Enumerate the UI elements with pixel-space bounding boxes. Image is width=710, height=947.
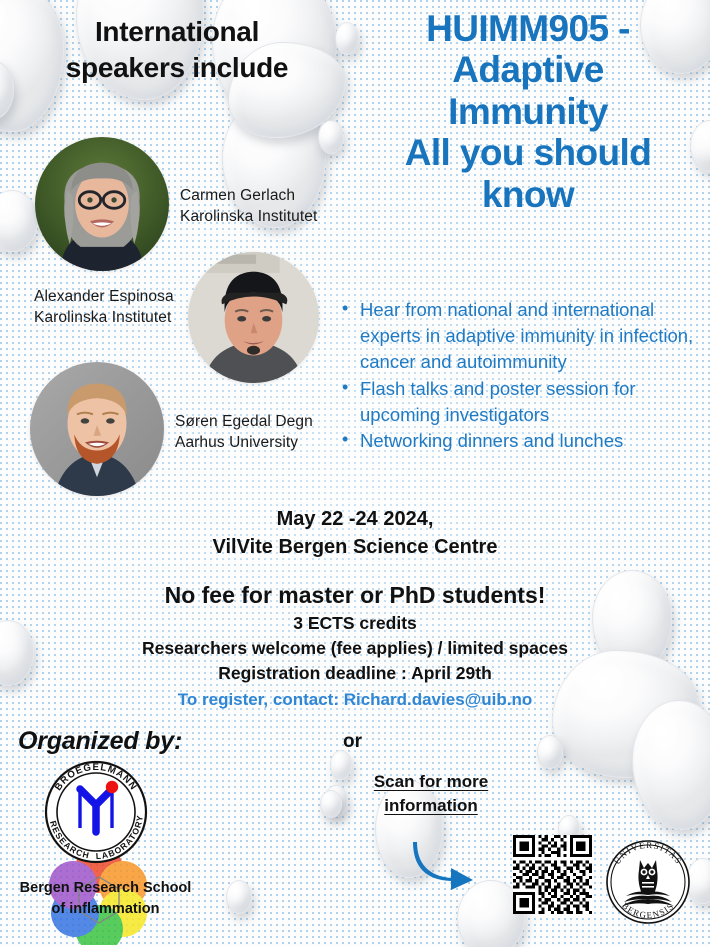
- list-item: Networking dinners and lunches: [338, 428, 706, 454]
- scan-for-more-information-label: Scan for more information: [355, 770, 507, 818]
- brsi-logo-label: Bergen Research School of inflammation: [8, 878, 203, 919]
- decorative-blob: [537, 735, 563, 769]
- broegelmann-research-laboratory-logo: BROEGELMANN RESEARCH LABORATORY: [40, 756, 152, 868]
- qr-code[interactable]: [513, 835, 592, 914]
- fee-headline: No fee for master or PhD students!: [20, 580, 690, 611]
- scan-line-1: Scan for more: [355, 770, 507, 794]
- decorative-blob: [226, 880, 252, 914]
- speaker-photo-soren-egedal-degn: [30, 362, 164, 496]
- speaker-name: Søren Egedal Degn: [175, 412, 313, 433]
- fee-information: No fee for master or PhD students! 3 ECT…: [20, 580, 690, 712]
- curved-arrow-icon: [411, 838, 479, 890]
- page-title: HUIMM905 - Adaptive Immunity All you sho…: [352, 8, 704, 215]
- speaker-affiliation: Karolinska Institutet: [180, 207, 317, 228]
- ects-credits: 3 ECTS credits: [20, 611, 690, 636]
- speaker-name: Carmen Gerlach: [180, 186, 317, 207]
- speaker-affiliation: Karolinska Institutet: [34, 308, 174, 329]
- left-heading: International speakers include: [22, 14, 332, 86]
- highlights-list: Hear from national and international exp…: [338, 297, 706, 455]
- left-heading-line-2: speakers include: [22, 50, 332, 86]
- event-venue: VilVite Bergen Science Centre: [60, 533, 650, 561]
- decorative-blob: [330, 750, 352, 780]
- brsi-label-line-1: Bergen Research School: [8, 878, 203, 899]
- title-line-2: Adaptive: [352, 49, 704, 90]
- or-label: or: [343, 731, 362, 753]
- speaker-caption-soren-egedal-degn: Søren Egedal Degn Aarhus University: [175, 412, 313, 453]
- title-line-4: All you should: [352, 132, 704, 173]
- speaker-caption-alexander-espinosa: Alexander Espinosa Karolinska Institutet: [34, 287, 174, 328]
- left-heading-line-1: International: [22, 14, 332, 50]
- event-date-venue: May 22 -24 2024, VilVite Bergen Science …: [60, 505, 650, 562]
- university-of-bergen-seal-logo: UNIVERSITAS BERGENSIS: [604, 838, 692, 926]
- list-item: Hear from national and international exp…: [338, 297, 706, 375]
- brsi-label-line-2: of inflammation: [8, 899, 203, 920]
- scan-line-2: information: [355, 794, 507, 818]
- poster-canvas: International speakers include HUIMM905 …: [0, 0, 710, 947]
- speaker-photo-alexander-espinosa: [188, 252, 319, 383]
- researchers-note: Researchers welcome (fee applies) / limi…: [20, 636, 690, 661]
- speaker-caption-carmen-gerlach: Carmen Gerlach Karolinska Institutet: [180, 186, 317, 227]
- title-line-5: know: [352, 174, 704, 215]
- organized-by-label: Organized by:: [18, 727, 182, 756]
- decorative-blob: [320, 790, 342, 818]
- contact-email-link[interactable]: To register, contact: Richard.davies@uib…: [20, 686, 690, 713]
- speaker-photo-carmen-gerlach: [35, 137, 169, 271]
- list-item: Flash talks and poster session for upcom…: [338, 376, 706, 428]
- title-line-1: HUIMM905 -: [352, 8, 704, 49]
- speaker-affiliation: Aarhus University: [175, 433, 313, 454]
- decorative-blob: [318, 120, 344, 154]
- speaker-name: Alexander Espinosa: [34, 287, 174, 308]
- event-dates: May 22 -24 2024,: [60, 505, 650, 533]
- registration-deadline: Registration deadline : April 29th: [20, 661, 690, 686]
- title-line-3: Immunity: [352, 91, 704, 132]
